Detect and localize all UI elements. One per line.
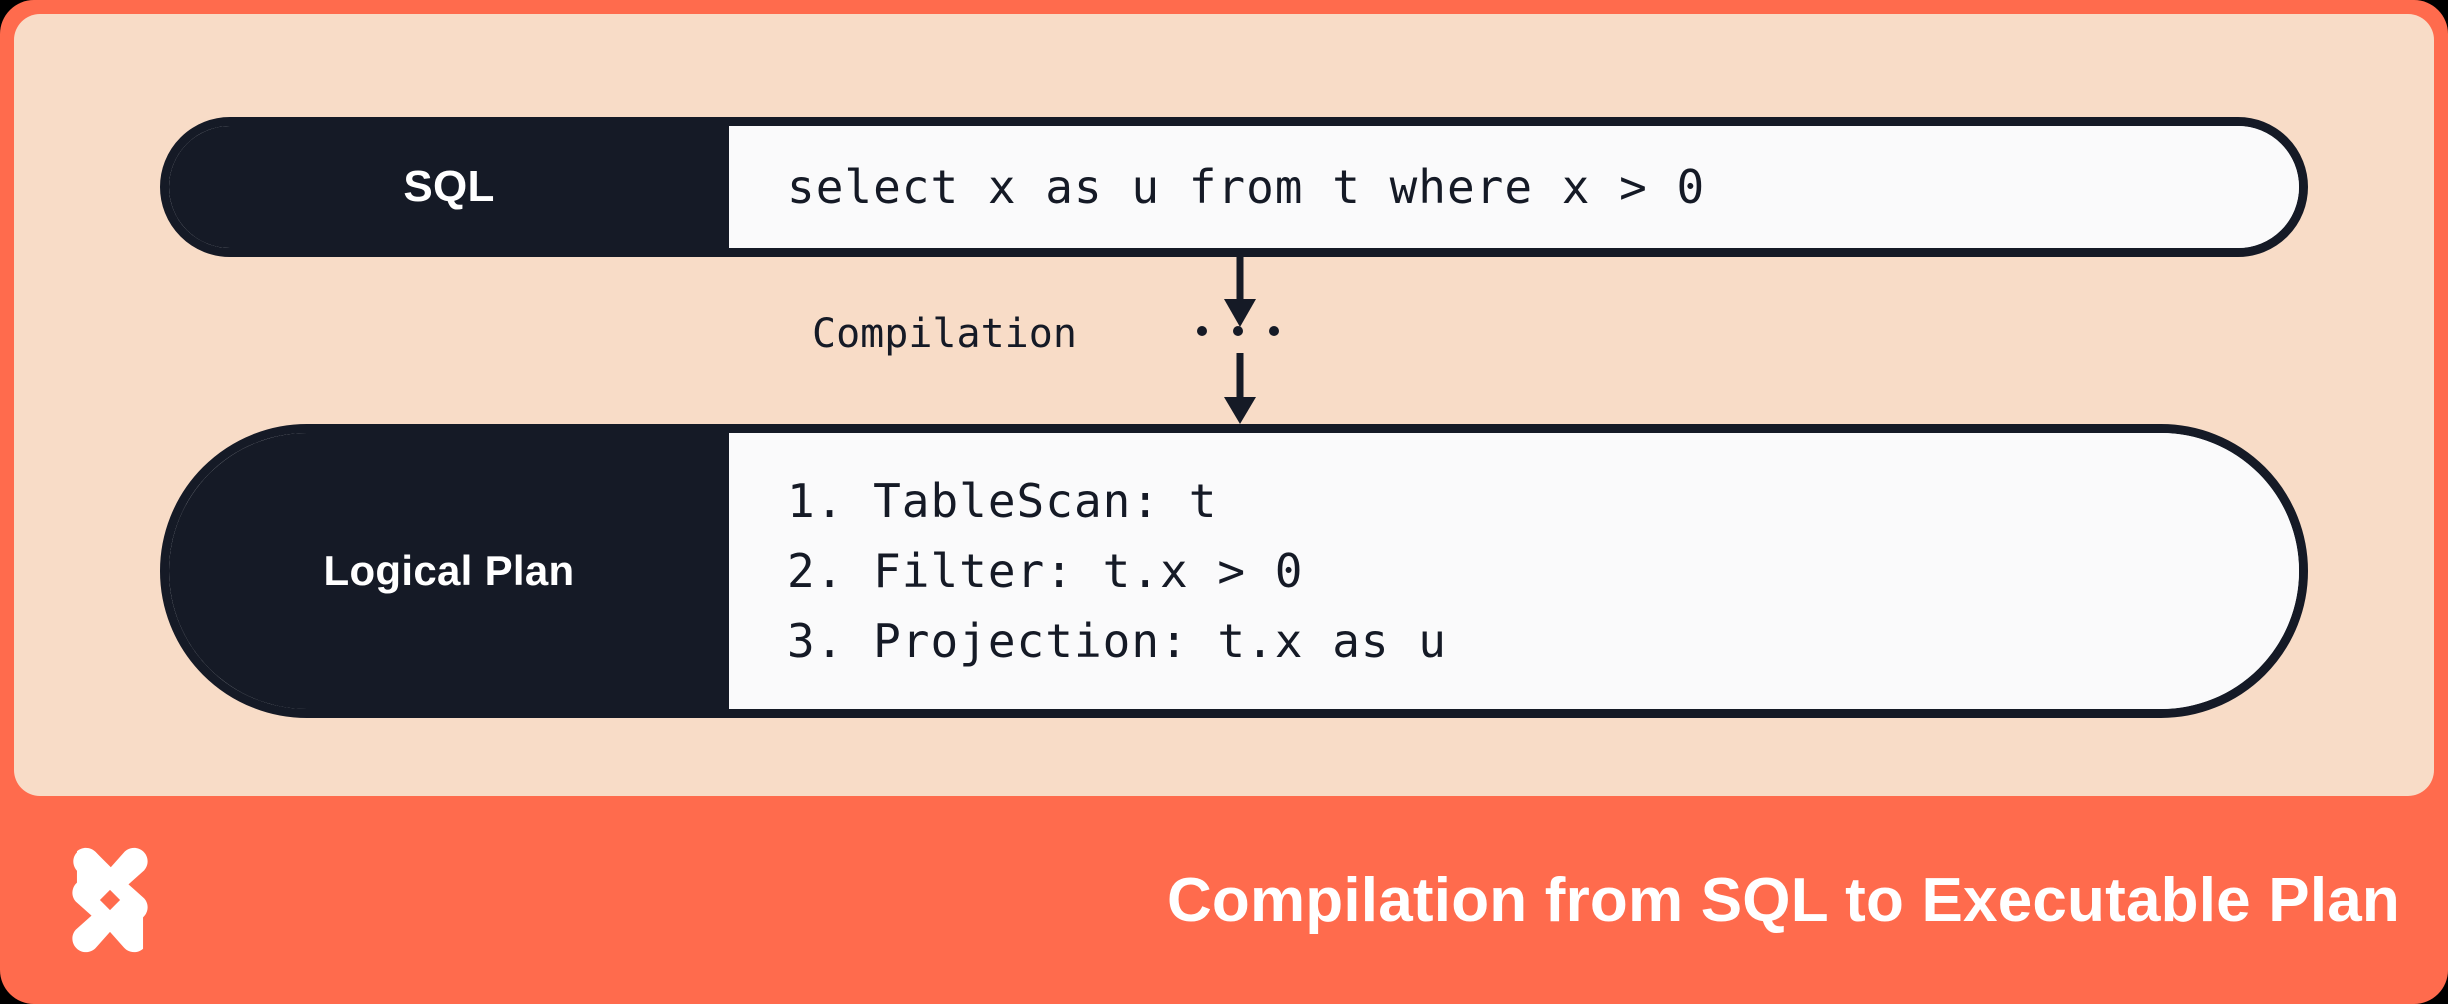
logical-plan-row-body: 1. TableScan: t 2. Filter: t.x > 0 3. Pr… <box>729 433 2299 709</box>
sql-row: SQL select x as u from t where x > 0 <box>160 117 2308 257</box>
sql-query-text: select x as u from t where x > 0 <box>787 160 2299 214</box>
plan-step-2: 2. Filter: t.x > 0 <box>787 536 2299 606</box>
sql-row-body: select x as u from t where x > 0 <box>729 126 2299 248</box>
footer-caption: Compilation from SQL to Executable Plan <box>1167 865 2400 936</box>
x-star-logo-icon <box>54 844 166 956</box>
ellipsis-dots-icon <box>1197 315 1279 347</box>
sql-row-label: SQL <box>169 126 729 248</box>
ellipsis-dot <box>1197 326 1207 336</box>
ellipsis-dot <box>1269 326 1279 336</box>
logical-plan-row-label: Logical Plan <box>169 433 729 709</box>
compilation-flow: Compilation <box>14 257 2434 424</box>
ellipsis-dot <box>1233 326 1243 336</box>
compilation-label: Compilation <box>812 311 1077 357</box>
plan-step-1: 1. TableScan: t <box>787 466 2299 536</box>
logical-plan-row: Logical Plan 1. TableScan: t 2. Filter: … <box>160 424 2308 718</box>
plan-step-3: 3. Projection: t.x as u <box>787 606 2299 676</box>
diagram-card: SQL select x as u from t where x > 0 Com… <box>0 0 2448 1004</box>
diagram-panel: SQL select x as u from t where x > 0 Com… <box>14 14 2434 796</box>
footer-bar: Compilation from SQL to Executable Plan <box>0 796 2448 1004</box>
